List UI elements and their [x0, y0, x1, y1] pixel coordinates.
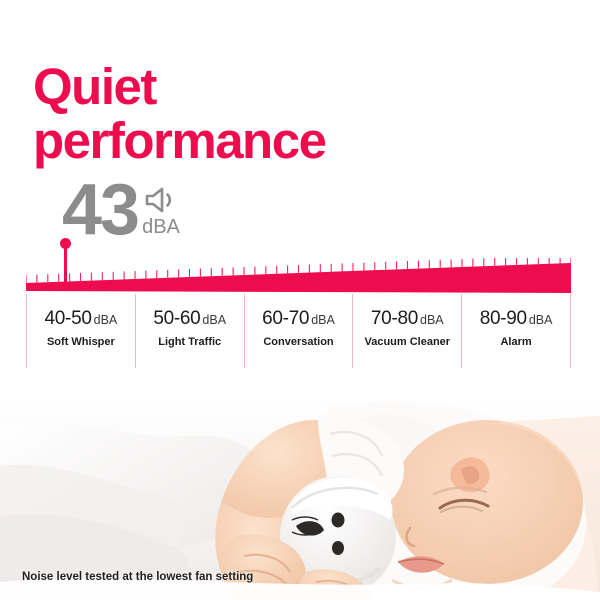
noise-band-range-unit: dBA: [202, 313, 226, 327]
noise-band-cell: 70-80dBAVacuum Cleaner: [352, 294, 461, 368]
noise-band-cell: 80-90dBAAlarm: [461, 294, 571, 368]
noise-reading-unit-group: dBA: [142, 181, 180, 239]
noise-band-source: Soft Whisper: [47, 336, 115, 348]
noise-reading-value: 43: [62, 181, 138, 240]
noise-band-cell: 40-50dBASoft Whisper: [26, 294, 135, 368]
noise-band-range: 60-70dBA: [262, 308, 335, 330]
noise-band-cell: 50-60dBALight Traffic: [135, 294, 244, 368]
noise-band-range: 70-80dBA: [371, 308, 444, 330]
footnote-caption: Noise level tested at the lowest fan set…: [22, 571, 253, 583]
noise-band-legend: 40-50dBASoft Whisper50-60dBALight Traffi…: [26, 294, 571, 368]
noise-band-range-value: 60-70: [262, 308, 309, 329]
noise-band-source: Light Traffic: [158, 336, 221, 348]
baby-photo: [0, 396, 600, 600]
noise-band-range-unit: dBA: [311, 313, 335, 327]
noise-band-range-unit: dBA: [94, 313, 118, 327]
noise-band-source: Vacuum Cleaner: [364, 336, 450, 348]
speaker-icon: [144, 185, 178, 215]
page-title-line-1: Quiet: [33, 60, 553, 114]
noise-band-source: Alarm: [500, 336, 531, 348]
noise-band-range-value: 50-60: [153, 308, 200, 329]
noise-band-cell: 60-70dBAConversation: [244, 294, 353, 368]
noise-reading: 43 dBA: [62, 181, 180, 240]
page-title-line-2: performance: [33, 114, 553, 168]
noise-scale: [26, 258, 571, 294]
noise-band-source: Conversation: [263, 336, 333, 348]
noise-level-infographic: Quiet performance 43 dBA 40-50dBASoft Wh…: [0, 0, 600, 600]
noise-band-range: 40-50dBA: [45, 308, 118, 330]
noise-band-range-value: 80-90: [480, 308, 527, 329]
page-title: Quiet performance: [33, 60, 553, 168]
noise-band-range: 80-90dBA: [480, 308, 553, 330]
scale-wedge: [26, 258, 571, 294]
noise-band-range: 50-60dBA: [153, 308, 226, 330]
noise-band-range-unit: dBA: [420, 313, 444, 327]
noise-band-range-unit: dBA: [529, 313, 553, 327]
noise-band-range-value: 40-50: [45, 308, 92, 329]
noise-reading-unit: dBA: [142, 216, 180, 239]
noise-band-range-value: 70-80: [371, 308, 418, 329]
